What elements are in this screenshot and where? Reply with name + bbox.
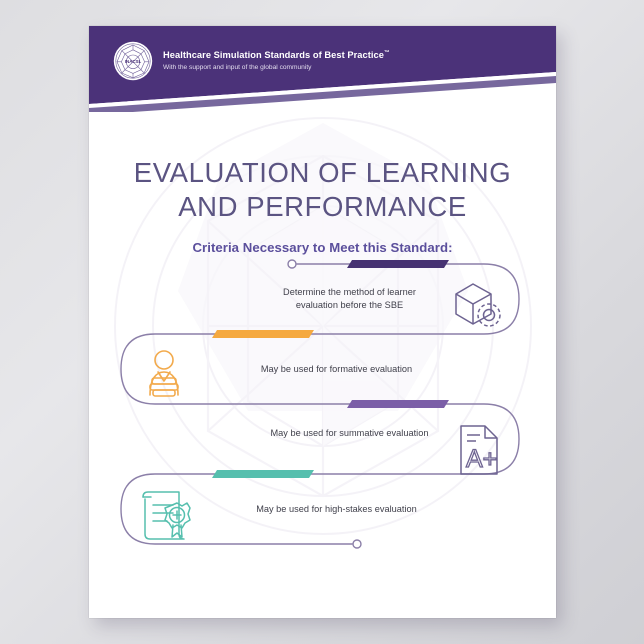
criteria-flow-diagram: Determine the method of learner evaluati… [89,244,556,580]
page-title: EVALUATION OF LEARNING AND PERFORMANCE [89,156,556,224]
poster-stage: INACSL Healthcare Simulation Standards o… [0,0,644,644]
step-2-text-line-1: May be used for formative evaluation [219,363,454,376]
flow-start-marker [288,260,296,268]
step-3-icon: A+ [455,422,503,483]
header-subtitle: With the support and input of the global… [163,64,390,72]
accent-segment-1 [347,260,449,268]
accent-segment-3 [347,400,449,408]
header-band-notch [234,106,249,112]
step-2-text: May be used for formative evaluation [219,363,454,376]
header-title: Healthcare Simulation Standards of Best … [163,50,390,62]
accent-segment-2 [212,330,314,338]
a-plus-label: A+ [466,445,497,473]
cube-gear-icon [451,280,505,332]
certificate-seal-icon [137,489,195,545]
step-1-text-line-2: evaluation before the SBE [232,299,467,312]
step-1-icon [451,280,505,337]
poster-canvas: INACSL Healthcare Simulation Standards o… [89,26,556,618]
step-2-icon [137,348,191,407]
step-1-text: Determine the method of learner evaluati… [232,286,467,313]
step-4-icon [137,489,195,550]
person-books-icon [137,348,191,402]
inacsl-logo: INACSL [113,41,153,81]
step-4-text-line-1: May be used for high-stakes evaluation [219,503,454,516]
step-4-text: May be used for high-stakes evaluation [219,503,454,516]
step-1-text-line-1: Determine the method of learner [232,286,467,299]
step-3-text: May be used for summative evaluation [232,427,467,440]
header-title-text: Healthcare Simulation Standards of Best … [163,50,384,60]
page-title-line-2: AND PERFORMANCE [89,190,556,224]
a-plus-document-icon: A+ [455,422,503,478]
title-block: EVALUATION OF LEARNING AND PERFORMANCE C… [89,156,556,255]
logo-wordmark: INACSL [125,59,142,64]
trademark-symbol: ™ [384,50,390,56]
flow-end-marker [353,540,361,548]
accent-segment-4 [212,470,314,478]
page-title-line-1: EVALUATION OF LEARNING [89,156,556,190]
header-band: INACSL Healthcare Simulation Standards o… [89,26,556,112]
diamond-emblem-icon: INACSL [113,41,153,81]
step-3-text-line-1: May be used for summative evaluation [232,427,467,440]
